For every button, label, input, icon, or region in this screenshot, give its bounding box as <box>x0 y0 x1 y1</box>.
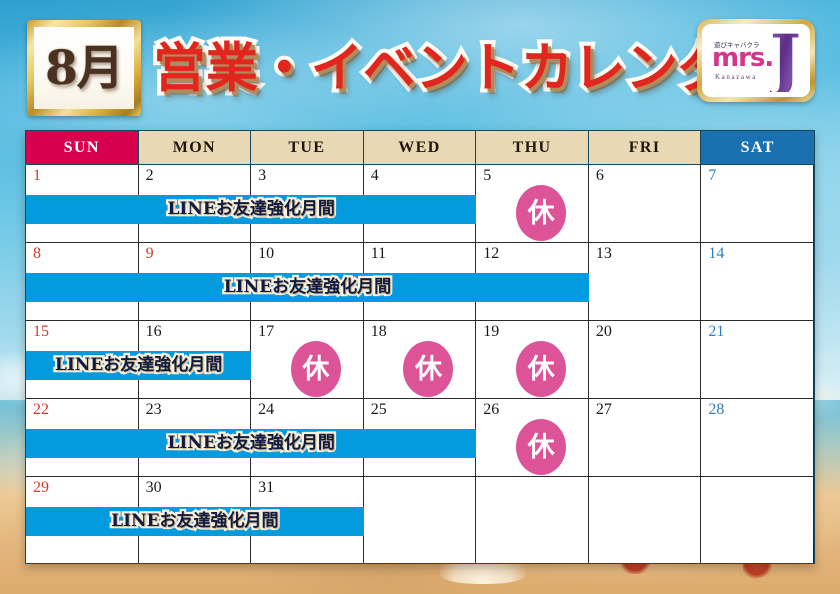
calendar-day-14[interactable]: 14 <box>701 243 814 320</box>
line-campaign-banner[interactable]: LINEお友達強化月間 <box>26 507 364 536</box>
line-campaign-banner-text: LINEお友達強化月間 <box>224 279 391 296</box>
day-number: 9 <box>146 245 154 263</box>
line-campaign-banner-text: LINEお友達強化月間 <box>167 201 334 218</box>
calendar-day-27[interactable]: 27 <box>589 399 702 476</box>
calendar-week-row: 151617休18休19休2021LINEお友達強化月間 <box>26 321 814 399</box>
calendar-day-empty[interactable] <box>364 477 477 563</box>
line-campaign-banner[interactable]: LINEお友達強化月間 <box>26 273 589 302</box>
line-campaign-banner[interactable]: LINEお友達強化月間 <box>26 429 476 458</box>
calendar-day-empty[interactable] <box>701 477 814 563</box>
calendar-grid: SUNMONTUEWEDTHUFRISAT 12345休67LINEお友達強化月… <box>25 130 815 564</box>
brand-logo-inner: 遊びキャバクラ mrs. Kanazawa J <box>702 24 810 97</box>
day-number: 11 <box>371 245 386 263</box>
calendar-week-row: 12345休67LINEお友達強化月間 <box>26 165 814 243</box>
day-number: 3 <box>258 167 266 185</box>
calendar-day-6[interactable]: 6 <box>589 165 702 242</box>
line-campaign-banner[interactable]: LINEお友達強化月間 <box>26 351 251 380</box>
day-number: 29 <box>33 479 49 497</box>
day-number: 28 <box>708 401 724 419</box>
brand-initial: J <box>770 26 801 92</box>
day-number: 12 <box>483 245 499 263</box>
closed-day-mark: 休 <box>516 419 566 475</box>
weekday-header-wed: WED <box>364 131 477 164</box>
weekday-header-thu: THU <box>476 131 589 164</box>
day-number: 22 <box>33 401 49 419</box>
day-number: 17 <box>258 323 274 341</box>
calendar-day-20[interactable]: 20 <box>589 321 702 398</box>
page-title: 営業・イベントカレンダー <box>150 22 680 114</box>
day-number: 15 <box>33 323 49 341</box>
calendar-weekday-header: SUNMONTUEWEDTHUFRISAT <box>25 130 815 165</box>
poster-header: 8月 営業・イベントカレンダー 遊びキャバクラ mrs. Kanazawa J <box>0 0 840 128</box>
day-number: 23 <box>146 401 162 419</box>
day-number: 6 <box>596 167 604 185</box>
calendar-day-5[interactable]: 5休 <box>476 165 589 242</box>
day-number: 30 <box>146 479 162 497</box>
calendar-day-empty[interactable] <box>589 477 702 563</box>
brand-city: Kanazawa <box>715 73 757 81</box>
month-label: 8月 <box>45 45 123 92</box>
line-campaign-banner-text: LINEお友達強化月間 <box>55 357 222 374</box>
day-number: 14 <box>708 245 724 263</box>
day-number: 26 <box>483 401 499 419</box>
day-number: 20 <box>596 323 612 341</box>
line-campaign-banner-text: LINEお友達強化月間 <box>111 513 278 530</box>
day-number: 25 <box>371 401 387 419</box>
day-number: 24 <box>258 401 274 419</box>
day-number: 5 <box>483 167 491 185</box>
weekday-header-mon: MON <box>139 131 252 164</box>
calendar-day-7[interactable]: 7 <box>701 165 814 242</box>
line-campaign-banner-text: LINEお友達強化月間 <box>167 435 334 452</box>
calendar-week-row: 2223242526休2728LINEお友達強化月間 <box>26 399 814 477</box>
weekday-header-sat: SAT <box>701 131 814 164</box>
day-number: 7 <box>708 167 716 185</box>
calendar-day-empty[interactable] <box>476 477 589 563</box>
calendar-day-26[interactable]: 26休 <box>476 399 589 476</box>
calendar-day-19[interactable]: 19休 <box>476 321 589 398</box>
calendar-week-row: 891011121314LINEお友達強化月間 <box>26 243 814 321</box>
brand-logo: 遊びキャバクラ mrs. Kanazawa J <box>697 19 815 102</box>
day-number: 19 <box>483 323 499 341</box>
month-badge-inner: 8月 <box>34 27 134 109</box>
day-number: 27 <box>596 401 612 419</box>
closed-day-mark: 休 <box>516 185 566 241</box>
day-number: 18 <box>371 323 387 341</box>
day-number: 10 <box>258 245 274 263</box>
closed-day-mark: 休 <box>291 341 341 397</box>
day-number: 8 <box>33 245 41 263</box>
weekday-header-tue: TUE <box>251 131 364 164</box>
calendar-poster: 8月 営業・イベントカレンダー 遊びキャバクラ mrs. Kanazawa J … <box>0 0 840 594</box>
brand-name: mrs. <box>712 45 773 71</box>
day-number: 31 <box>258 479 274 497</box>
day-number: 2 <box>146 167 154 185</box>
day-number: 13 <box>596 245 612 263</box>
calendar-day-18[interactable]: 18休 <box>364 321 477 398</box>
closed-day-mark: 休 <box>403 341 453 397</box>
calendar-week-row: 293031LINEお友達強化月間 <box>26 477 814 563</box>
calendar-day-17[interactable]: 17休 <box>251 321 364 398</box>
weekday-header-sun: SUN <box>26 131 139 164</box>
calendar-day-13[interactable]: 13 <box>589 243 702 320</box>
day-number: 4 <box>371 167 379 185</box>
calendar-day-28[interactable]: 28 <box>701 399 814 476</box>
page-title-text: 営業・イベントカレンダー <box>153 42 783 95</box>
day-number: 21 <box>708 323 724 341</box>
day-number: 1 <box>33 167 41 185</box>
weekday-header-fri: FRI <box>589 131 702 164</box>
month-badge: 8月 <box>27 20 141 116</box>
day-number: 16 <box>146 323 162 341</box>
calendar-weeks: 12345休67LINEお友達強化月間891011121314LINEお友達強化… <box>25 165 815 564</box>
calendar-day-21[interactable]: 21 <box>701 321 814 398</box>
closed-day-mark: 休 <box>516 341 566 397</box>
line-campaign-banner[interactable]: LINEお友達強化月間 <box>26 195 476 224</box>
